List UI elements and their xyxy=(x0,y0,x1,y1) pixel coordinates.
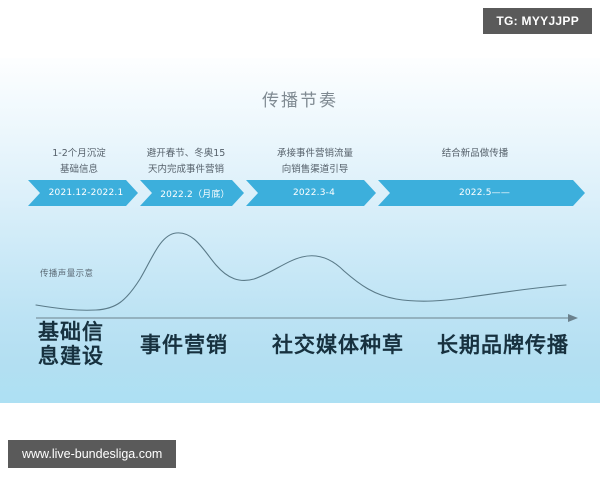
phase-chevron-3[interactable]: 2022.3-4 xyxy=(246,180,376,206)
curve-annotation-label: 传播声量示意 xyxy=(40,267,93,279)
site-url-watermark-badge: www.live-bundesliga.com xyxy=(8,440,176,469)
curve-line xyxy=(36,233,566,310)
slide-card: 传播节奏 1-2个月沉淀 基础信息 2021.12-2022.1 避开春节、冬奥… xyxy=(0,58,600,403)
phase-chevron-2[interactable]: 2022.2（月底） xyxy=(140,180,244,206)
phase-description-1: 1-2个月沉淀 基础信息 xyxy=(24,146,134,177)
phase-date-4: 2022.5—— xyxy=(453,188,510,198)
phase-heading-4: 长期品牌传播 xyxy=(437,333,569,357)
phase-chevron-1[interactable]: 2021.12-2022.1 xyxy=(28,180,138,206)
phase-description-3: 承接事件营销流量 向销售渠道引导 xyxy=(245,146,385,177)
phase-heading-1: 基础信 息建设 xyxy=(38,320,104,368)
telegram-watermark-badge: TG: MYYJJPP xyxy=(483,8,592,34)
phase-chevron-4[interactable]: 2022.5—— xyxy=(378,180,585,206)
phase-date-1: 2021.12-2022.1 xyxy=(43,188,124,198)
phase-heading-3: 社交媒体种草 xyxy=(272,333,404,357)
phase-headings: 基础信 息建设 事件营销 社交媒体种草 长期品牌传播 xyxy=(0,320,600,400)
phase-heading-2: 事件营销 xyxy=(140,333,228,357)
phase-description-4: 结合新品做传播 xyxy=(400,146,550,162)
phase-date-3: 2022.3-4 xyxy=(287,188,335,198)
phase-date-2: 2022.2（月底） xyxy=(154,187,230,200)
phase-description-2: 避开春节、冬奥15 天内完成事件营销 xyxy=(126,146,246,177)
